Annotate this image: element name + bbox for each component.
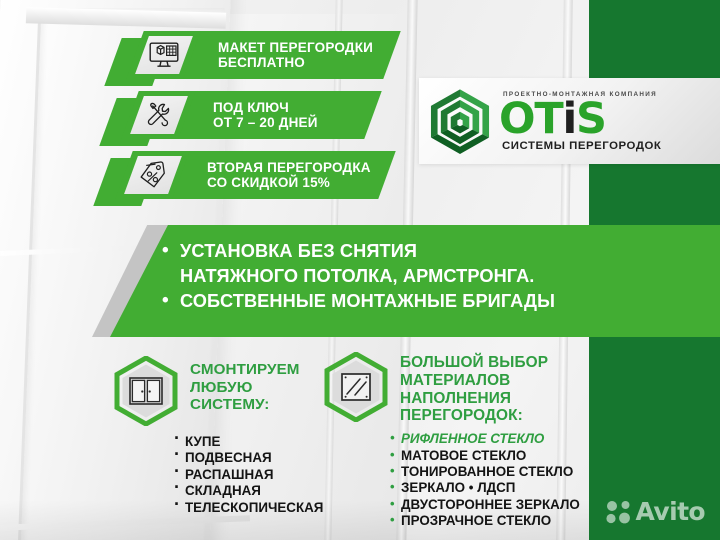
avito-wordmark: Avito <box>636 497 705 526</box>
logo-word-part2: i <box>563 94 577 144</box>
benefits-list: УСТАНОВКА БЕЗ СНЯТИЯ НАТЯЖНОГО ПОТОЛКА, … <box>162 239 720 314</box>
avito-dots-icon <box>606 500 632 524</box>
materials-column-title: БОЛЬШОЙ ВЫБОР МАТЕРИАЛОВ НАПОЛНЕНИЯ ПЕРЕ… <box>400 352 592 425</box>
badge-label-box: ПОД КЛЮЧ ОТ 7 – 20 ДНЕЙ <box>178 91 381 139</box>
advertisement-banner: МАКЕТ ПЕРЕГОРОДКИ БЕСПЛАТНО ПОД КЛЮЧ ОТ … <box>0 0 720 540</box>
materials-column-header: БОЛЬШОЙ ВЫБОР МАТЕРИАЛОВ НАПОЛНЕНИЯ ПЕРЕ… <box>322 352 592 425</box>
badge-label-box: МАКЕТ ПЕРЕГОРОДКИ БЕСПЛАТНО <box>183 31 400 79</box>
glass-panel-hex-icon <box>322 352 390 422</box>
badge-line-2: БЕСПЛАТНО <box>218 55 373 70</box>
list-item: ТОНИРОВАННОЕ СТЕКЛО <box>390 464 592 480</box>
list-item: ДВУСТОРОННЕЕ ЗЕРКАЛО <box>390 497 592 513</box>
systems-column-header: СМОНТИРУЕМ ЛЮБУЮ СИСТЕМУ: <box>112 356 322 426</box>
monitor-3d-model-icon <box>149 42 179 68</box>
list-item: РАСПАШНАЯ <box>174 467 322 483</box>
badge-line-1: ВТОРАЯ ПЕРЕГОРОДКА <box>207 160 371 175</box>
badge-line-2: СО СКИДКОЙ 15% <box>207 175 371 190</box>
logo-wordmark: OTiS <box>499 99 661 139</box>
feature-badge-turnkey: ПОД КЛЮЧ ОТ 7 – 20 ДНЕЙ <box>130 91 373 139</box>
logo-subtitle: СИСТЕМЫ ПЕРЕГОРОДОК <box>502 140 661 152</box>
feature-badge-mockup: МАКЕТ ПЕРЕГОРОДКИ БЕСПЛАТНО <box>135 31 392 79</box>
badge-line-1: МАКЕТ ПЕРЕГОРОДКИ <box>218 40 373 55</box>
benefit-item: СОБСТВЕННЫЕ МОНТАЖНЫЕ БРИГАДЫ <box>162 289 720 314</box>
list-item: ТЕЛЕСКОПИЧЕСКАЯ <box>174 500 322 516</box>
badge-line-2: ОТ 7 – 20 ДНЕЙ <box>213 115 318 130</box>
list-item: ПОДВЕСНАЯ <box>174 450 322 466</box>
materials-column: БОЛЬШОЙ ВЫБОР МАТЕРИАЛОВ НАПОЛНЕНИЯ ПЕРЕ… <box>322 352 592 530</box>
double-door-hex-icon <box>112 356 180 426</box>
list-item: ПРОЗРАЧНОЕ СТЕКЛО <box>390 513 592 529</box>
systems-list: КУПЕ ПОДВЕСНАЯ РАСПАШНАЯ СКЛАДНАЯ ТЕЛЕСК… <box>174 434 322 516</box>
badge-label-box: ВТОРАЯ ПЕРЕГОРОДКА СО СКИДКОЙ 15% <box>172 151 395 199</box>
list-item: КУПЕ <box>174 434 322 450</box>
logo-word-part3: S <box>576 94 606 144</box>
list-item: МАТОВОЕ СТЕКЛО <box>390 448 592 464</box>
benefit-item-continuation: НАТЯЖНОГО ПОТОЛКА, АРМСТРОНГА. <box>162 264 720 289</box>
systems-column-title: СМОНТИРУЕМ ЛЮБУЮ СИСТЕМУ: <box>190 356 322 414</box>
materials-list: РИФЛЕННОЕ СТЕКЛО МАТОВОЕ СТЕКЛО ТОНИРОВА… <box>390 431 592 529</box>
systems-column: СМОНТИРУЕМ ЛЮБУЮ СИСТЕМУ: КУПЕ ПОДВЕСНАЯ… <box>112 356 322 516</box>
badge-line-1: ПОД КЛЮЧ <box>213 100 318 115</box>
feature-badge-discount: ВТОРАЯ ПЕРЕГОРОДКА СО СКИДКОЙ 15% <box>124 151 387 199</box>
isometric-cube-logo-icon <box>427 88 493 154</box>
benefit-item: УСТАНОВКА БЕЗ СНЯТИЯ <box>162 239 720 264</box>
price-tags-discount-icon <box>138 161 168 189</box>
logo-word-part1: OT <box>499 94 563 144</box>
main-benefits-banner: УСТАНОВКА БЕЗ СНЯТИЯ НАТЯЖНОГО ПОТОЛКА, … <box>110 225 720 337</box>
list-item: ЗЕРКАЛО • ЛДСП <box>390 480 592 496</box>
list-item: РИФЛЕННОЕ СТЕКЛО <box>390 431 592 447</box>
list-item: СКЛАДНАЯ <box>174 483 322 499</box>
wrench-screwdriver-icon <box>144 101 174 129</box>
avito-watermark: Avito <box>606 497 705 526</box>
company-logo-panel: ПРОЕКТНО-МОНТАЖНАЯ КОМПАНИЯ OTiS СИСТЕМЫ… <box>419 78 720 164</box>
